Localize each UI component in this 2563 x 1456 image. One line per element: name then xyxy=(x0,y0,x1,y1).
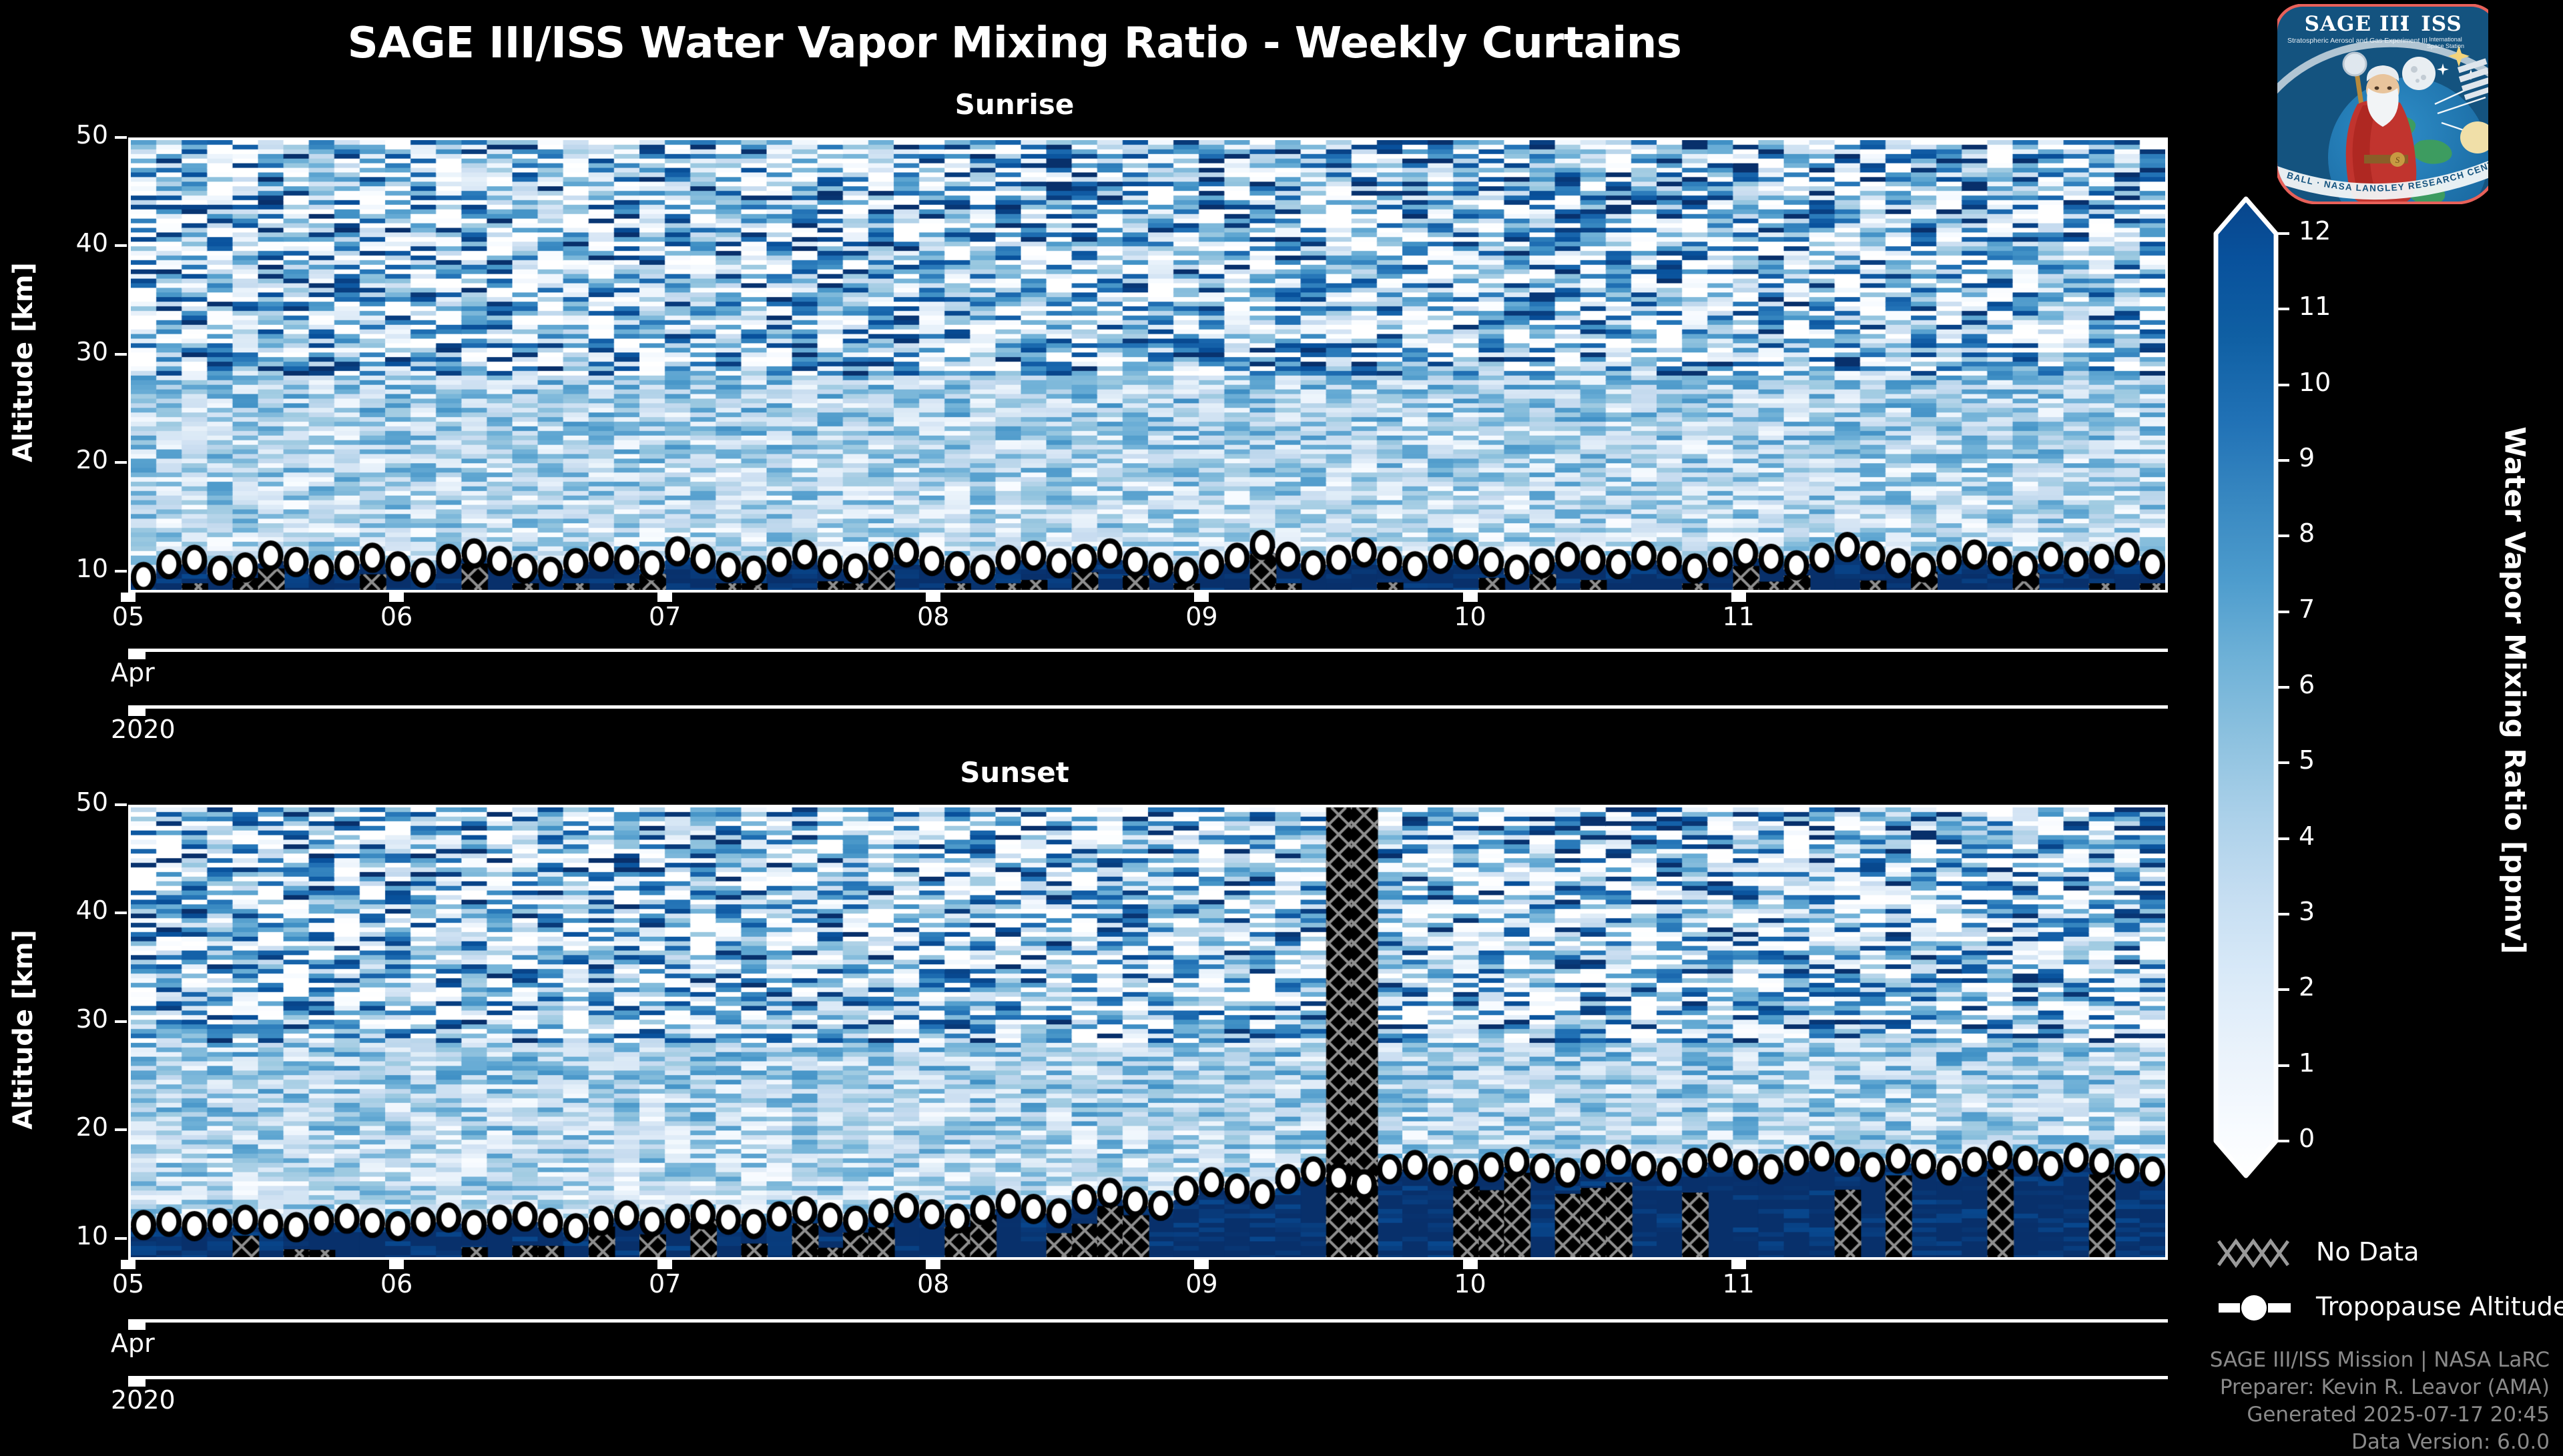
colorbar-tick-label: 4 xyxy=(2299,821,2315,851)
sunrise-title-text: Sunrise xyxy=(0,88,2029,121)
colorbar-tick-mark xyxy=(2276,534,2289,537)
svg-text:S: S xyxy=(2395,155,2400,165)
y-tick-mark xyxy=(115,1128,127,1131)
x-tick-mark xyxy=(1731,1260,1746,1269)
colorbar-tick-mark xyxy=(2276,761,2289,764)
legend-item-no-data[interactable]: No Data xyxy=(2216,1236,2550,1273)
sunset-title-text: Sunset xyxy=(0,756,2029,789)
y-tick-label: 20 xyxy=(28,1112,108,1142)
dashed-line-circle-icon xyxy=(2216,1291,2303,1325)
sunrise-plot-area[interactable] xyxy=(128,137,2168,593)
x-tick-mark xyxy=(1463,1260,1478,1269)
y-tick-mark xyxy=(115,570,127,573)
colorbar-tick-label: 8 xyxy=(2299,518,2315,548)
x-tick-mark xyxy=(121,1260,135,1269)
y-tick-mark xyxy=(115,1237,127,1240)
svg-text:ISS: ISS xyxy=(2421,12,2462,36)
y-tick-label: 50 xyxy=(28,787,108,817)
x-tick-label: 08 xyxy=(893,602,973,631)
x-tick-mark xyxy=(389,1260,404,1269)
legend-label-tropopause: Tropopause Altitude xyxy=(2316,1292,2563,1321)
svg-text:Space Station: Space Station xyxy=(2427,43,2464,49)
x-tick-label: 10 xyxy=(1430,602,1510,631)
x-tick-label: 09 xyxy=(1161,602,1241,631)
x-tick-label: 11 xyxy=(1699,1269,1779,1299)
sunrise-year-rule xyxy=(128,705,2168,709)
legend-item-tropopause[interactable]: Tropopause Altitude xyxy=(2216,1291,2550,1328)
sunset-month-rule xyxy=(128,1319,2168,1323)
colorbar-tick-mark xyxy=(2276,686,2289,689)
colorbar-axis-label: Water Vapor Mixing Ratio [ppmv] xyxy=(2499,390,2532,991)
x-tick-label: 05 xyxy=(88,1269,168,1299)
y-tick-label: 30 xyxy=(28,1004,108,1034)
sunrise-curtain-canvas xyxy=(131,140,2165,590)
y-tick-mark xyxy=(115,803,127,806)
x-tick-mark xyxy=(657,1260,672,1269)
colorbar-tick-mark xyxy=(2276,837,2289,840)
y-tick-label: 20 xyxy=(28,445,108,474)
x-tick-label: 08 xyxy=(893,1269,973,1299)
colorbar-tick-label: 11 xyxy=(2299,292,2331,321)
sunrise-year-label: 2020 xyxy=(111,715,176,744)
y-tick-label: 30 xyxy=(28,337,108,366)
patch-graphic: S BALL · NASA LANGLEY RESEARCH CENTER · … xyxy=(2277,4,2488,204)
svg-text:SAGE III: SAGE III xyxy=(2305,12,2411,36)
footer-line-mission: SAGE III/ISS Mission | NASA LaRC xyxy=(1936,1347,2550,1374)
page-title: SAGE III/ISS Water Vapor Mixing Ratio - … xyxy=(0,19,2029,68)
sunset-curtain-canvas xyxy=(131,807,2165,1257)
colorbar-tick-mark xyxy=(2276,232,2289,235)
y-tick-mark xyxy=(115,136,127,139)
y-tick-label: 10 xyxy=(28,1221,108,1250)
hatch-cross-icon xyxy=(2216,1236,2303,1270)
footer-line-preparer: Preparer: Kevin R. Leavor (AMA) xyxy=(1936,1374,2550,1401)
svg-text:Stratospheric Aerosol and Gas: Stratospheric Aerosol and Gas Experiment… xyxy=(2287,37,2428,45)
x-tick-label: 10 xyxy=(1430,1269,1510,1299)
colorbar-tick-mark xyxy=(2276,611,2289,613)
colorbar-tick-mark xyxy=(2276,1140,2289,1142)
colorbar-tick-label: 7 xyxy=(2299,595,2315,624)
colorbar-tick-mark xyxy=(2276,384,2289,386)
y-tick-label: 40 xyxy=(28,228,108,258)
colorbar-tick-label: 9 xyxy=(2299,443,2315,472)
colorbar-tick-mark xyxy=(2276,308,2289,310)
svg-text:·: · xyxy=(2399,12,2407,36)
colorbar-tick-label: 10 xyxy=(2299,368,2331,397)
x-tick-label: 05 xyxy=(88,602,168,631)
sunrise-month-rule xyxy=(128,649,2168,652)
y-tick-mark xyxy=(115,1020,127,1023)
colorbar-tick-label: 3 xyxy=(2299,897,2315,926)
colorbar-tick-mark xyxy=(2276,988,2289,991)
y-tick-label: 10 xyxy=(28,554,108,583)
sunset-month-label: Apr xyxy=(111,1329,155,1358)
footer-line-generated: Generated 2025-07-17 20:45 xyxy=(1936,1401,2550,1429)
sage-iii-iss-mission-patch: S BALL · NASA LANGLEY RESEARCH CENTER · … xyxy=(2277,4,2488,204)
legend-label-no-data: No Data xyxy=(2316,1237,2419,1266)
colorbar[interactable]: 0123456789101112 xyxy=(2209,194,2289,1181)
x-tick-label: 07 xyxy=(625,1269,705,1299)
x-tick-label: 09 xyxy=(1161,1269,1241,1299)
sunset-year-label: 2020 xyxy=(111,1385,176,1415)
svg-text:International: International xyxy=(2429,36,2462,43)
colorbar-tick-label: 1 xyxy=(2299,1048,2315,1078)
colorbar-tick-label: 5 xyxy=(2299,745,2315,775)
sunset-year-rule xyxy=(128,1376,2168,1379)
x-tick-mark xyxy=(926,593,940,602)
footer-credits: SAGE III/ISS Mission | NASA LaRC Prepare… xyxy=(1936,1347,2550,1456)
x-tick-label: 07 xyxy=(625,602,705,631)
x-tick-mark xyxy=(1731,593,1746,602)
footer-line-version: Data Version: 6.0.0 xyxy=(1936,1429,2550,1456)
x-tick-label: 06 xyxy=(356,602,437,631)
colorbar-tick-mark xyxy=(2276,459,2289,462)
panel-title-sunset: Sunset xyxy=(0,756,2029,789)
x-tick-mark xyxy=(389,593,404,602)
legend: No Data Tropopause Altitude xyxy=(2216,1236,2550,1345)
x-tick-label: 06 xyxy=(356,1269,437,1299)
colorbar-tick-mark xyxy=(2276,1064,2289,1067)
x-tick-mark xyxy=(1194,593,1209,602)
y-tick-mark xyxy=(115,461,127,464)
colorbar-tick-label: 2 xyxy=(2299,972,2315,1002)
y-tick-mark xyxy=(115,353,127,356)
sunrise-month-label: Apr xyxy=(111,658,155,687)
y-tick-label: 50 xyxy=(28,120,108,149)
x-tick-label: 11 xyxy=(1699,602,1779,631)
panel-title-sunrise: Sunrise xyxy=(0,88,2029,121)
colorbar-tick-label: 0 xyxy=(2299,1124,2315,1153)
y-tick-mark xyxy=(115,244,127,247)
x-tick-mark xyxy=(1463,593,1478,602)
y-tick-mark xyxy=(115,912,127,914)
x-tick-mark xyxy=(121,593,135,602)
x-tick-mark xyxy=(926,1260,940,1269)
sunset-plot-area[interactable] xyxy=(128,805,2168,1260)
y-tick-label: 40 xyxy=(28,895,108,925)
x-tick-mark xyxy=(1194,1260,1209,1269)
colorbar-tick-label: 6 xyxy=(2299,670,2315,699)
x-tick-mark xyxy=(657,593,672,602)
colorbar-tick-mark xyxy=(2276,913,2289,916)
colorbar-tick-label: 12 xyxy=(2299,216,2331,246)
